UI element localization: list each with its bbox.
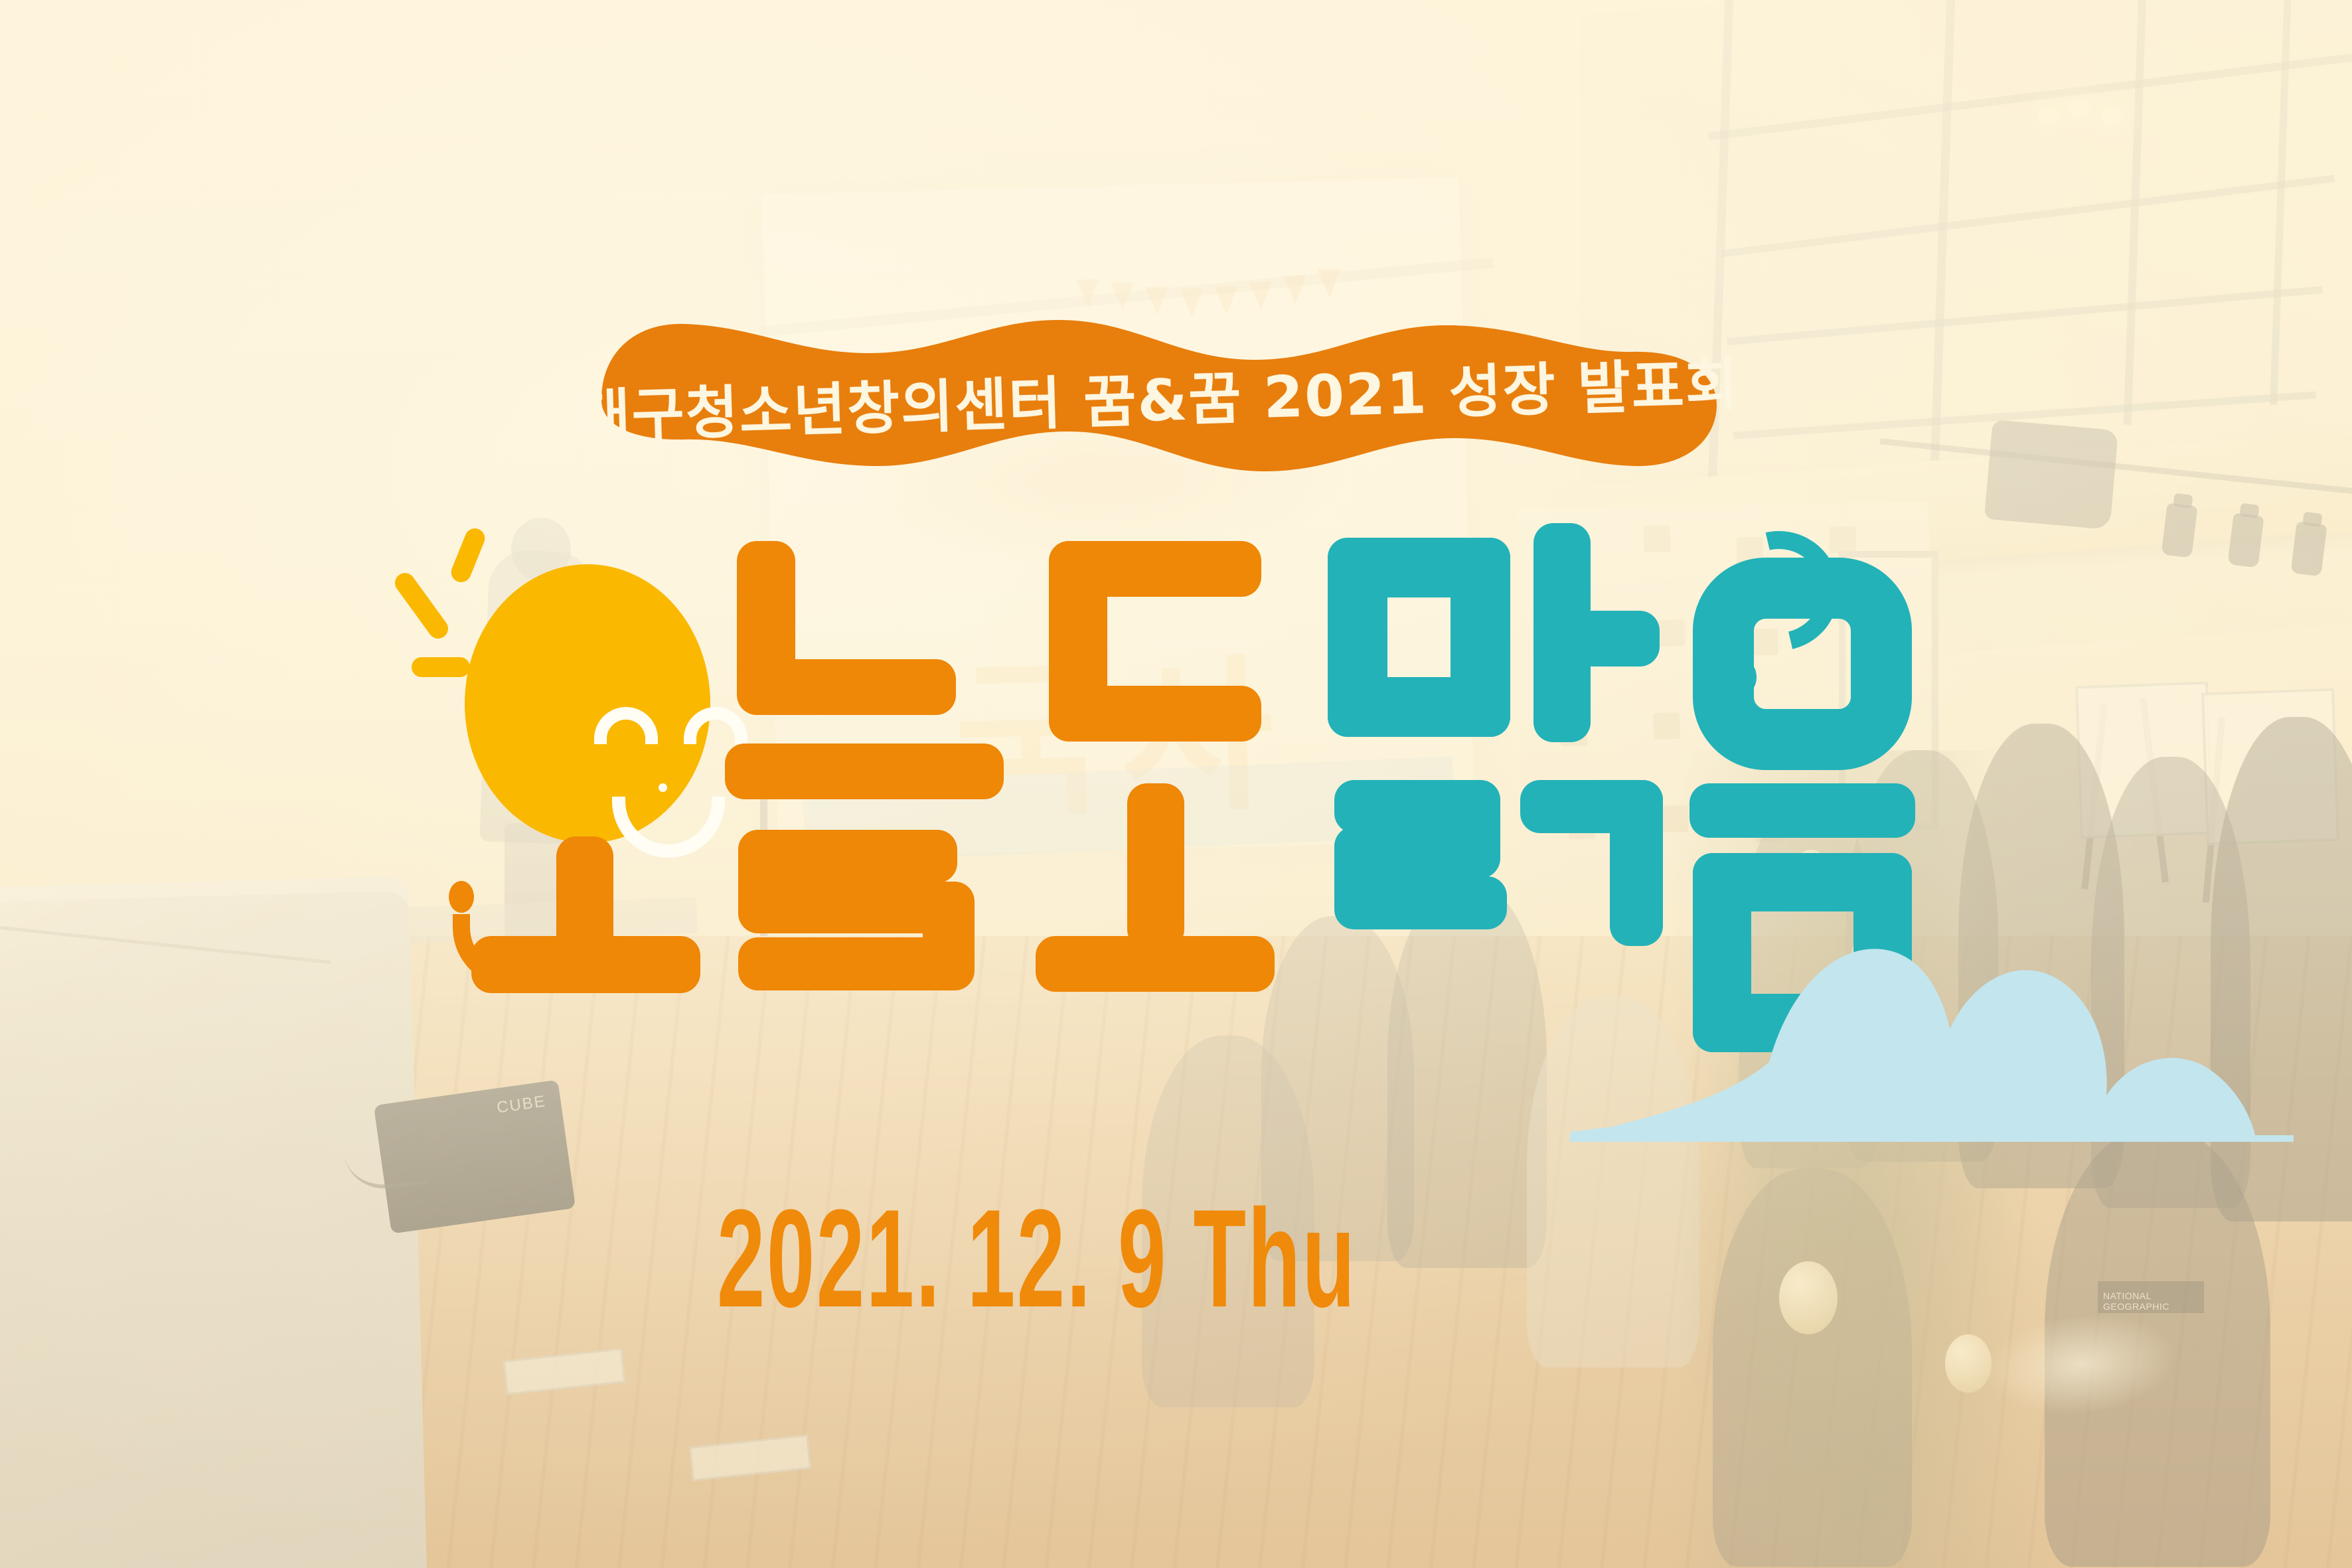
glyph-stroke-teal (1610, 780, 1663, 946)
glyph-stroke (1127, 783, 1184, 949)
sun-mouth-icon (612, 797, 725, 858)
deco-dot-teal (1726, 659, 1757, 696)
event-subtitle-badge: 대구청소년창의센터 꿈&꿈 2021 성장 발표회 (597, 312, 1719, 478)
sun-ray-icon (391, 569, 452, 643)
sun-eye-left-icon (594, 707, 658, 744)
cloud-icon (1570, 929, 2294, 1142)
event-date: 2021. 12. 9 Thu (717, 1178, 1357, 1339)
glyph-stroke-teal (1334, 876, 1507, 929)
graphic-overlay: 대구청소년창의센터 꿈&꿈 2021 성장 발표회 (0, 0, 2352, 1568)
smiley-sun-icon (465, 564, 710, 843)
sun-ray-icon (412, 657, 470, 677)
event-poster: 국사 (0, 0, 2352, 1568)
badge-label: 대구청소년창의센터 꿈&꿈 2021 성장 발표회 (595, 296, 1721, 493)
glyph-stroke-teal (1328, 677, 1510, 737)
glyph-stroke (738, 937, 975, 990)
glyph-stroke (1049, 686, 1261, 742)
deco-dot-orange (449, 881, 474, 913)
sun-nose-icon (659, 783, 667, 792)
glyph-stroke-teal (1573, 611, 1660, 666)
glyph-stroke (725, 744, 1004, 799)
sun-eye-right-icon (684, 707, 747, 744)
glyph-stroke (1036, 936, 1275, 992)
glyph-stroke-teal (1689, 783, 1915, 838)
deco-swoosh-orange (453, 914, 538, 987)
glyph-stroke (1049, 541, 1261, 597)
sun-ray-icon (448, 525, 488, 585)
glyph-stroke (737, 659, 956, 715)
